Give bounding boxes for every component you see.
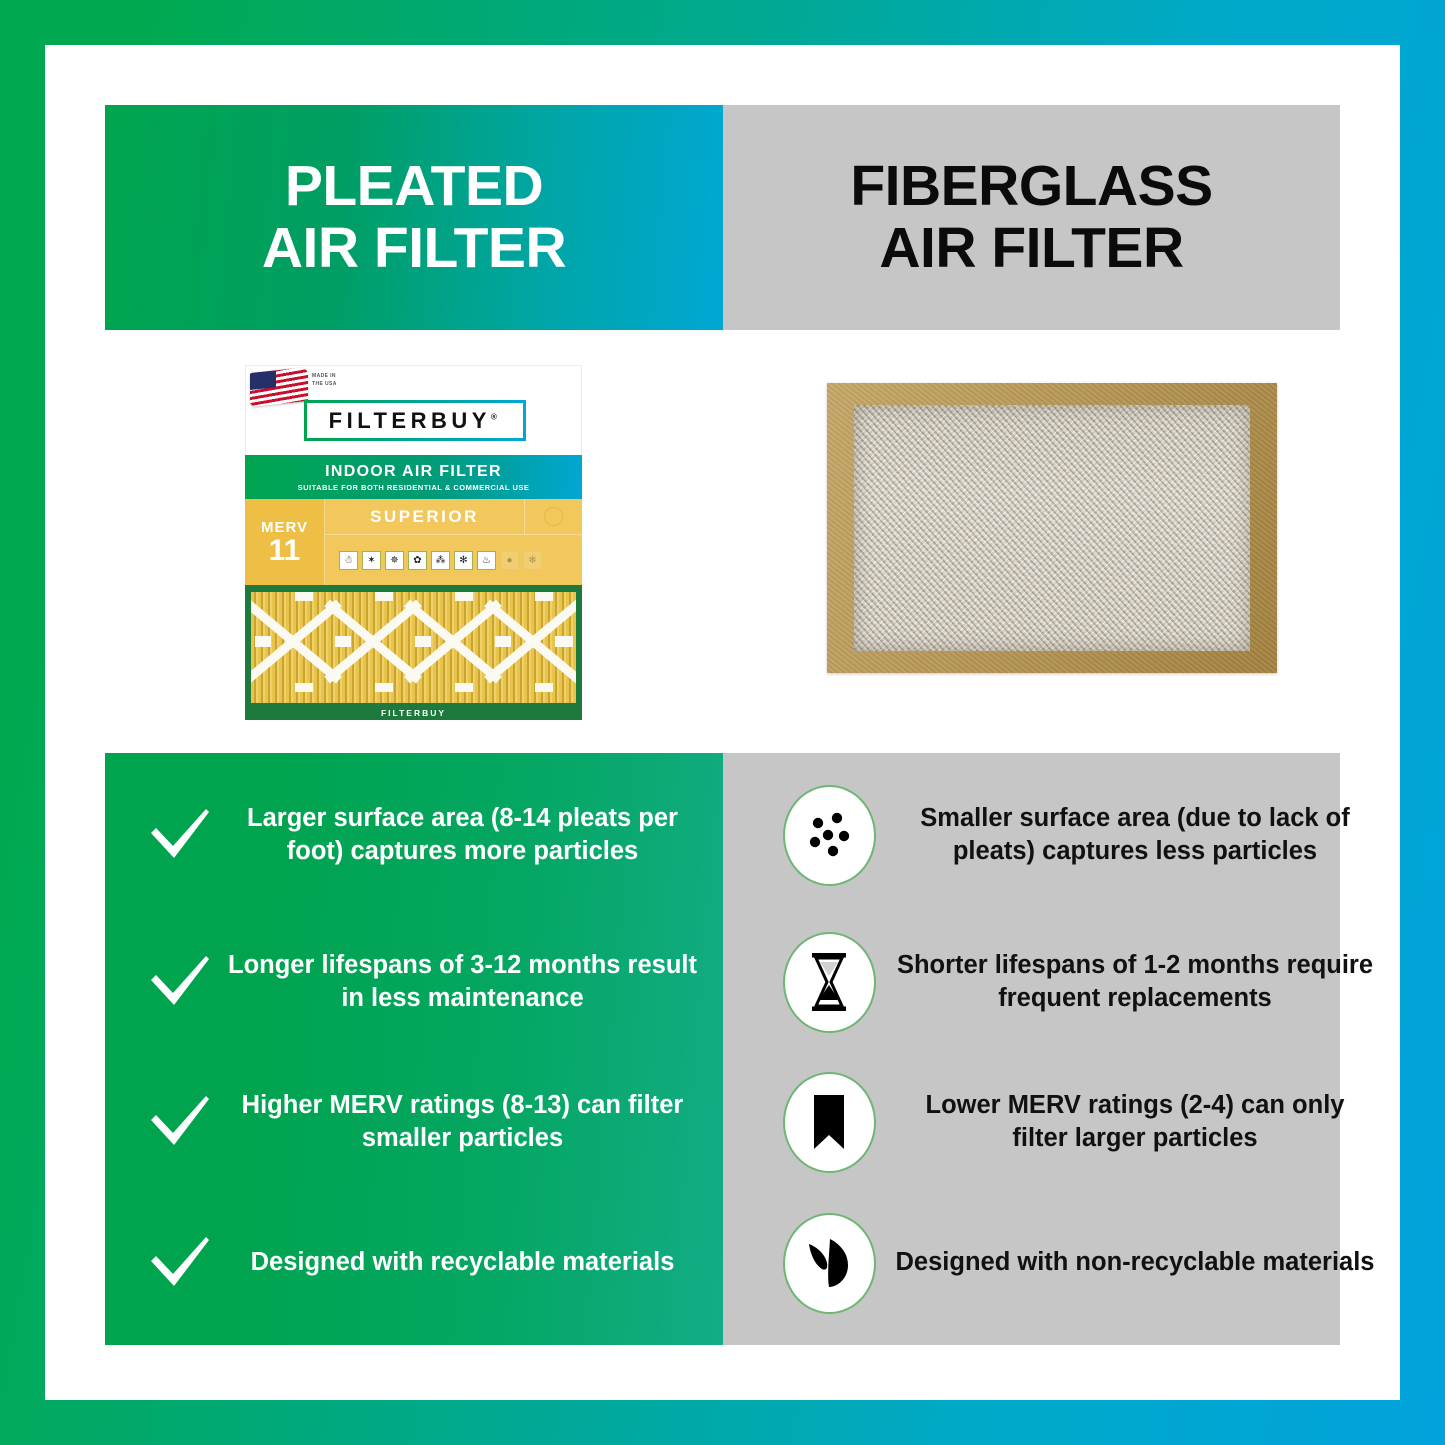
package-top-panel: MADE IN THE USA FILTERBUY®: [245, 365, 582, 455]
fiberglass-header-line1: FIBERGLASS: [850, 154, 1212, 218]
fiberglass-header-title: FIBERGLASS AIR FILTER: [850, 156, 1212, 279]
pleated-header-line2: AIR FILTER: [262, 216, 566, 280]
mold-spore-icon: ⁂: [431, 551, 450, 570]
pleated-header-line1: PLEATED: [285, 154, 543, 218]
comparison-row: Higher MERV ratings (8-13) can filter sm…: [105, 1052, 1340, 1192]
merv-value: 11: [269, 536, 301, 566]
pet-dander-icon: ✻: [454, 551, 473, 570]
fiberglass-filter-product-image: [827, 383, 1277, 673]
certification-seal-icon: [525, 499, 582, 535]
check-icon: [141, 1234, 219, 1292]
pleated-media-window: FILTERBUY: [245, 585, 582, 720]
fiberglass-media: [854, 405, 1250, 651]
made-in-usa-text: MADE IN THE USA: [312, 373, 337, 388]
smoke-icon: ♨: [477, 551, 496, 570]
pleated-filter-product-image: MADE IN THE USA FILTERBUY® INDOOR AIR FI…: [245, 365, 582, 720]
fiberglass-header-line2: AIR FILTER: [879, 216, 1183, 280]
pleated-benefit-text: Larger surface area (8-14 pleats per foo…: [225, 802, 700, 868]
header-row: PLEATED AIR FILTER FIBERGLASS AIR FILTER: [105, 105, 1340, 330]
comparison-rows: Larger surface area (8-14 pleats per foo…: [105, 753, 1340, 1345]
comparison-row: Larger surface area (8-14 pleats per foo…: [105, 765, 1340, 905]
fiberglass-drawback-text: Lower MERV ratings (2-4) can only filter…: [895, 1089, 1375, 1155]
merv-block: MERV 11: [245, 499, 325, 585]
usa-flag-icon: [250, 367, 308, 407]
outer-gradient-frame: PLEATED AIR FILTER FIBERGLASS AIR FILTER…: [0, 0, 1445, 1445]
check-icon: [141, 953, 219, 1011]
pleated-benefit-text: Designed with recyclable materials: [225, 1246, 700, 1279]
package-footer-brand: FILTERBUY: [245, 708, 582, 718]
check-icon: [141, 1093, 219, 1151]
ribbon-icon: [808, 1093, 850, 1151]
product-image-row: MADE IN THE USA FILTERBUY® INDOOR AIR FI…: [105, 330, 1340, 750]
package-band: INDOOR AIR FILTER SUITABLE FOR BOTH RESI…: [245, 455, 582, 499]
capture-icon-strip: ☃ ✶ ✵ ✿ ⁂ ✻ ♨ ● ❄: [325, 535, 582, 585]
fiberglass-header: FIBERGLASS AIR FILTER: [723, 105, 1340, 330]
particles-icon: [802, 808, 856, 862]
hourglass-icon: [808, 952, 850, 1012]
row-icon-badge: [776, 932, 882, 1033]
support-lattice: [251, 592, 576, 703]
dust-mite-icon: ✶: [362, 551, 381, 570]
merv-label: MERV: [261, 519, 308, 536]
dust-icon: ☃: [339, 551, 358, 570]
row-icon-badge: [776, 785, 882, 886]
brand-name: FILTERBUY®: [329, 408, 502, 434]
comparison-panel: Larger surface area (8-14 pleats per foo…: [105, 753, 1340, 1345]
comparison-row: Designed with recyclable materials Desig…: [105, 1193, 1340, 1333]
pleated-media: [251, 592, 576, 703]
pleated-benefit-text: Longer lifespans of 3-12 months result i…: [225, 949, 700, 1015]
package-band-title: INDOOR AIR FILTER: [325, 463, 502, 481]
leaf-icon: [801, 1235, 857, 1291]
pleated-header-title: PLEATED AIR FILTER: [262, 156, 566, 279]
comparison-row: Longer lifespans of 3-12 months result i…: [105, 912, 1340, 1052]
bacteria-icon: ✵: [385, 551, 404, 570]
fiberglass-drawback-text: Designed with non-recyclable materials: [895, 1246, 1375, 1279]
fiberglass-drawback-text: Shorter lifespans of 1-2 months require …: [895, 949, 1375, 1015]
fiberglass-drawback-text: Smaller surface area (due to lack of ple…: [895, 802, 1375, 868]
check-icon: [141, 806, 219, 864]
tier-label: SUPERIOR: [370, 507, 479, 527]
virus-icon-dim: ●: [500, 551, 519, 570]
pleated-header: PLEATED AIR FILTER: [105, 105, 723, 330]
bacteria-icon-dim: ❄: [523, 551, 542, 570]
package-spec-panel: MERV 11 SUPERIOR ☃ ✶ ✵ ✿ ⁂ ✻ ♨ ●: [245, 499, 582, 585]
brand-logo-box: FILTERBUY®: [304, 400, 526, 441]
row-icon-badge: [776, 1213, 882, 1314]
row-icon-badge: [776, 1072, 882, 1173]
package-band-subtitle: SUITABLE FOR BOTH RESIDENTIAL & COMMERCI…: [298, 483, 530, 492]
tier-block: SUPERIOR: [325, 499, 525, 535]
pleated-benefit-text: Higher MERV ratings (8-13) can filter sm…: [225, 1089, 700, 1155]
pollen-icon: ✿: [408, 551, 427, 570]
